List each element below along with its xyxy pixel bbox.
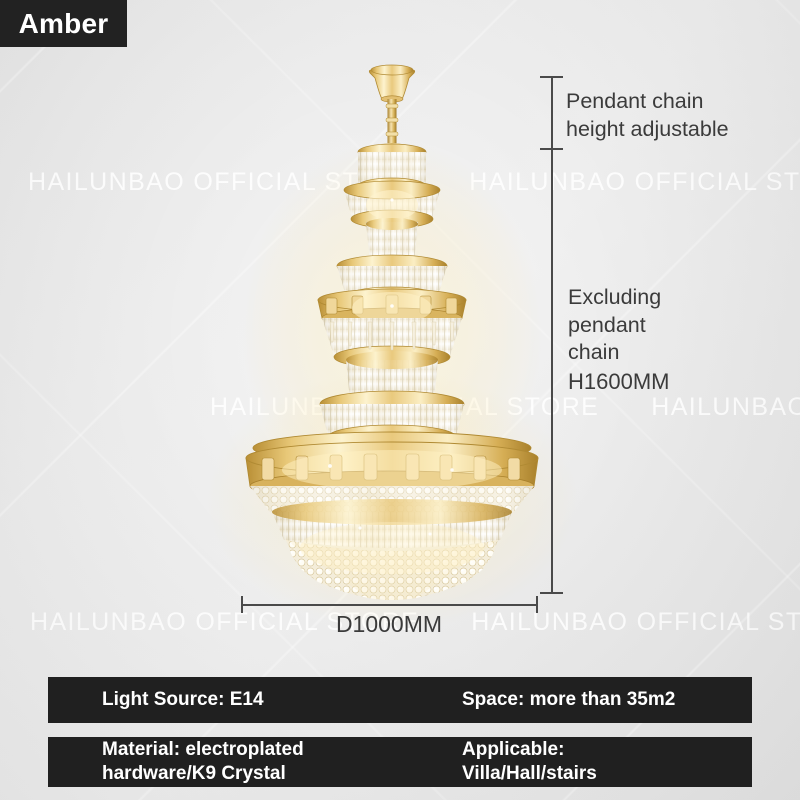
dimension-tick-chain (540, 148, 563, 150)
annotation-excluding-chain: Excluding pendant chain (568, 284, 661, 367)
spec-bar-2: Material: electroplated hardware/K9 Crys… (48, 737, 752, 787)
annotation-diameter-value: D1000MM (241, 611, 537, 638)
color-variant-badge[interactable]: Amber (0, 0, 127, 47)
horizontal-dimension-line (241, 604, 537, 606)
spec-material: Material: electroplated hardware/K9 Crys… (102, 738, 462, 785)
spec-bar-1: Light Source: E14 Space: more than 35m2 (48, 677, 752, 723)
spec-applicable: Applicable: Villa/Hall/stairs (462, 738, 597, 785)
annotation-pendant-chain: Pendant chain height adjustable (566, 88, 729, 143)
vertical-dimension-line (551, 76, 553, 593)
spec-space: Space: more than 35m2 (462, 688, 675, 712)
product-image-canvas: HAILUNBAO OFFICIAL STOREHAILUNBAO OFFICI… (0, 0, 800, 800)
color-variant-label: Amber (19, 10, 109, 38)
annotation-height-value: H1600MM (568, 368, 669, 396)
dimension-tick-top (540, 76, 563, 78)
spec-light-source: Light Source: E14 (102, 688, 462, 712)
dimension-tick-bottom (540, 592, 563, 594)
